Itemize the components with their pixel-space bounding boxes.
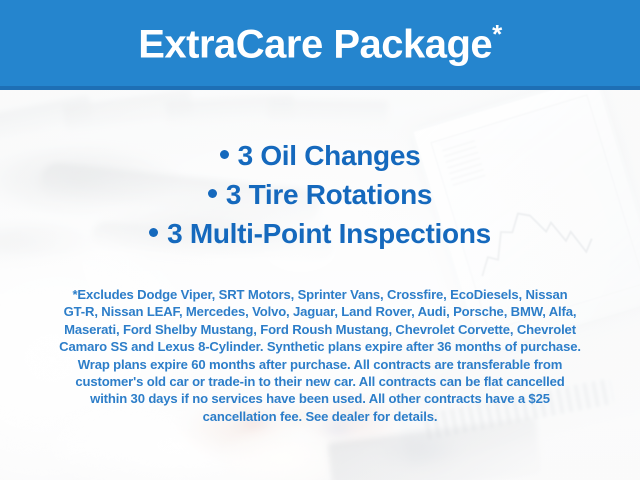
page-title: ExtraCare Package* xyxy=(138,21,502,68)
list-item: 3 Oil Changes xyxy=(0,136,640,175)
benefit-label: 3 Multi-Point Inspections xyxy=(167,218,491,249)
page-title-asterisk: * xyxy=(492,19,502,49)
disclaimer-text: *Excludes Dodge Viper, SRT Motors, Sprin… xyxy=(22,286,618,425)
header-banner: ExtraCare Package* xyxy=(0,0,640,90)
disclaimer-line: customer's old car or trade-in to their … xyxy=(22,373,618,390)
benefits-list: 3 Oil Changes 3 Tire Rotations 3 Multi-P… xyxy=(0,136,640,253)
list-item: 3 Tire Rotations xyxy=(0,175,640,214)
page-title-text: ExtraCare Package xyxy=(138,23,492,67)
disclaimer-line: cancellation fee. See dealer for details… xyxy=(22,408,618,425)
benefit-label: 3 Oil Changes xyxy=(238,140,421,171)
bullet-dot-icon xyxy=(208,189,217,198)
bullet-dot-icon xyxy=(149,228,158,237)
disclaimer-line: GT-R, Nissan LEAF, Mercedes, Volvo, Jagu… xyxy=(22,303,618,320)
bullet-dot-icon xyxy=(220,150,229,159)
benefit-label: 3 Tire Rotations xyxy=(226,179,432,210)
disclaimer-line: Camaro SS and Lexus 8-Cylinder. Syntheti… xyxy=(22,338,618,355)
disclaimer-line: Maserati, Ford Shelby Mustang, Ford Rous… xyxy=(22,321,618,338)
extracare-package-poster: ExtraCare Package* 3 Oil Changes 3 Tire … xyxy=(0,0,640,480)
list-item: 3 Multi-Point Inspections xyxy=(0,214,640,253)
disclaimer-line: within 30 days if no services have been … xyxy=(22,390,618,407)
disclaimer-line: *Excludes Dodge Viper, SRT Motors, Sprin… xyxy=(22,286,618,303)
disclaimer-line: Wrap plans expire 60 months after purcha… xyxy=(22,356,618,373)
